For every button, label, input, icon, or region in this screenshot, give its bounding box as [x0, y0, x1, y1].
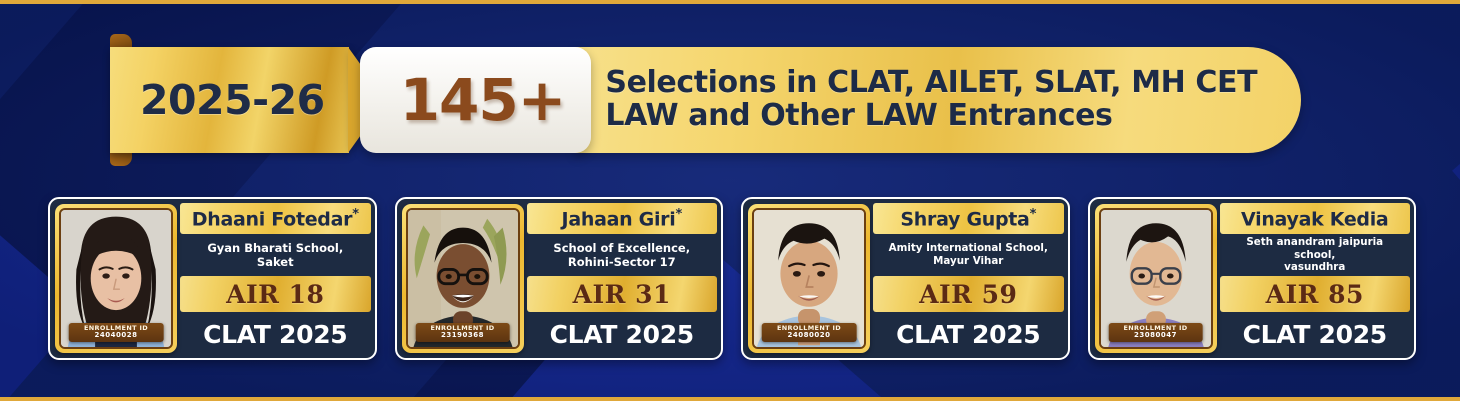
selection-count-panel: 145+ — [360, 47, 592, 153]
school-name: Seth anandram jaipuria school,vasundhra — [1225, 236, 1406, 275]
air-rank: AIR 31 — [573, 280, 671, 309]
school-band: Seth anandram jaipuria school,vasundhra — [1220, 237, 1411, 273]
school-name: Amity International School,Mayur Vihar — [889, 242, 1048, 268]
air-rank: AIR 59 — [919, 280, 1017, 309]
student-name: Dhaani Fotedar* — [192, 207, 359, 230]
year-label: 2025-26 — [140, 76, 325, 124]
enrollment-badge: ENROLLMENT ID 23080047 — [1108, 323, 1203, 342]
enrollment-id: 23190368 — [417, 332, 508, 339]
topper-card[interactable]: ENROLLMENT ID 23080047 Vinayak Kedia Set… — [1088, 197, 1417, 360]
enrollment-badge: ENROLLMENT ID 23190368 — [415, 323, 510, 342]
school-band: School of Excellence,Rohini-Sector 17 — [527, 237, 718, 273]
rank-band: AIR 18 — [180, 276, 371, 312]
exam-band: CLAT 2025 — [873, 315, 1064, 354]
rank-band: AIR 85 — [1220, 276, 1411, 312]
school-name: School of Excellence,Rohini-Sector 17 — [553, 241, 690, 270]
student-name: Vinayak Kedia — [1241, 207, 1388, 230]
topper-card-list: ENROLLMENT ID 24040028 Dhaani Fotedar* G… — [48, 197, 1416, 360]
exam-band: CLAT 2025 — [180, 315, 371, 354]
promo-banner: 2025-26 145+ Selections in CLAT, AILET, … — [0, 0, 1460, 401]
headline-line-2: LAW and Other LAW Entrances — [605, 99, 1257, 132]
exam-name: CLAT 2025 — [550, 320, 694, 349]
enrollment-id: 23080047 — [1110, 332, 1201, 339]
student-name-band: Vinayak Kedia — [1220, 203, 1411, 234]
photo-inner-frame: ENROLLMENT ID 23190368 — [406, 208, 520, 349]
enrollment-id: 24040028 — [71, 332, 162, 339]
year-ribbon-band: 2025-26 — [110, 47, 349, 153]
school-band: Gyan Bharati School,Saket — [180, 237, 371, 273]
student-name-band: Dhaani Fotedar* — [180, 203, 371, 234]
exam-name: CLAT 2025 — [896, 320, 1040, 349]
card-info: Vinayak Kedia Seth anandram jaipuria sch… — [1217, 199, 1415, 358]
school-name: Gyan Bharati School,Saket — [207, 241, 343, 270]
enrollment-badge: ENROLLMENT ID 24040028 — [69, 323, 164, 342]
student-name: Jahaan Giri* — [562, 207, 682, 230]
exam-band: CLAT 2025 — [1220, 315, 1411, 354]
school-band: Amity International School,Mayur Vihar — [873, 237, 1064, 273]
enrollment-badge: ENROLLMENT ID 24080020 — [762, 323, 857, 342]
rank-band: AIR 31 — [527, 276, 718, 312]
photo-frame: ENROLLMENT ID 23080047 — [1095, 204, 1217, 353]
selection-count: 145+ — [400, 71, 566, 129]
card-info: Shray Gupta* Amity International School,… — [870, 199, 1068, 358]
headline-panel: Selections in CLAT, AILET, SLAT, MH CET … — [575, 47, 1301, 153]
photo-inner-frame: ENROLLMENT ID 24040028 — [59, 208, 173, 349]
photo-frame: ENROLLMENT ID 24040028 — [55, 204, 177, 353]
photo-inner-frame: ENROLLMENT ID 24080020 — [752, 208, 866, 349]
year-ribbon: 2025-26 — [110, 47, 386, 153]
student-name-band: Shray Gupta* — [873, 203, 1064, 234]
exam-band: CLAT 2025 — [527, 315, 718, 354]
student-name-band: Jahaan Giri* — [527, 203, 718, 234]
headline-text: Selections in CLAT, AILET, SLAT, MH CET … — [605, 66, 1257, 132]
topper-card[interactable]: ENROLLMENT ID 23190368 Jahaan Giri* Scho… — [395, 197, 724, 360]
rank-band: AIR 59 — [873, 276, 1064, 312]
card-info: Jahaan Giri* School of Excellence,Rohini… — [524, 199, 722, 358]
student-name: Shray Gupta* — [900, 207, 1036, 230]
enrollment-id: 24080020 — [764, 332, 855, 339]
air-rank: AIR 18 — [226, 280, 324, 309]
topper-card[interactable]: ENROLLMENT ID 24040028 Dhaani Fotedar* G… — [48, 197, 377, 360]
topper-card[interactable]: ENROLLMENT ID 24080020 Shray Gupta* Amit… — [741, 197, 1070, 360]
banner-header: 2025-26 145+ Selections in CLAT, AILET, … — [110, 47, 1301, 153]
photo-frame: ENROLLMENT ID 23190368 — [402, 204, 524, 353]
exam-name: CLAT 2025 — [1243, 320, 1387, 349]
exam-name: CLAT 2025 — [203, 320, 347, 349]
card-info: Dhaani Fotedar* Gyan Bharati School,Sake… — [177, 199, 375, 358]
photo-frame: ENROLLMENT ID 24080020 — [748, 204, 870, 353]
air-rank: AIR 85 — [1266, 280, 1364, 309]
headline-line-1: Selections in CLAT, AILET, SLAT, MH CET — [605, 65, 1257, 100]
photo-inner-frame: ENROLLMENT ID 23080047 — [1099, 208, 1213, 349]
